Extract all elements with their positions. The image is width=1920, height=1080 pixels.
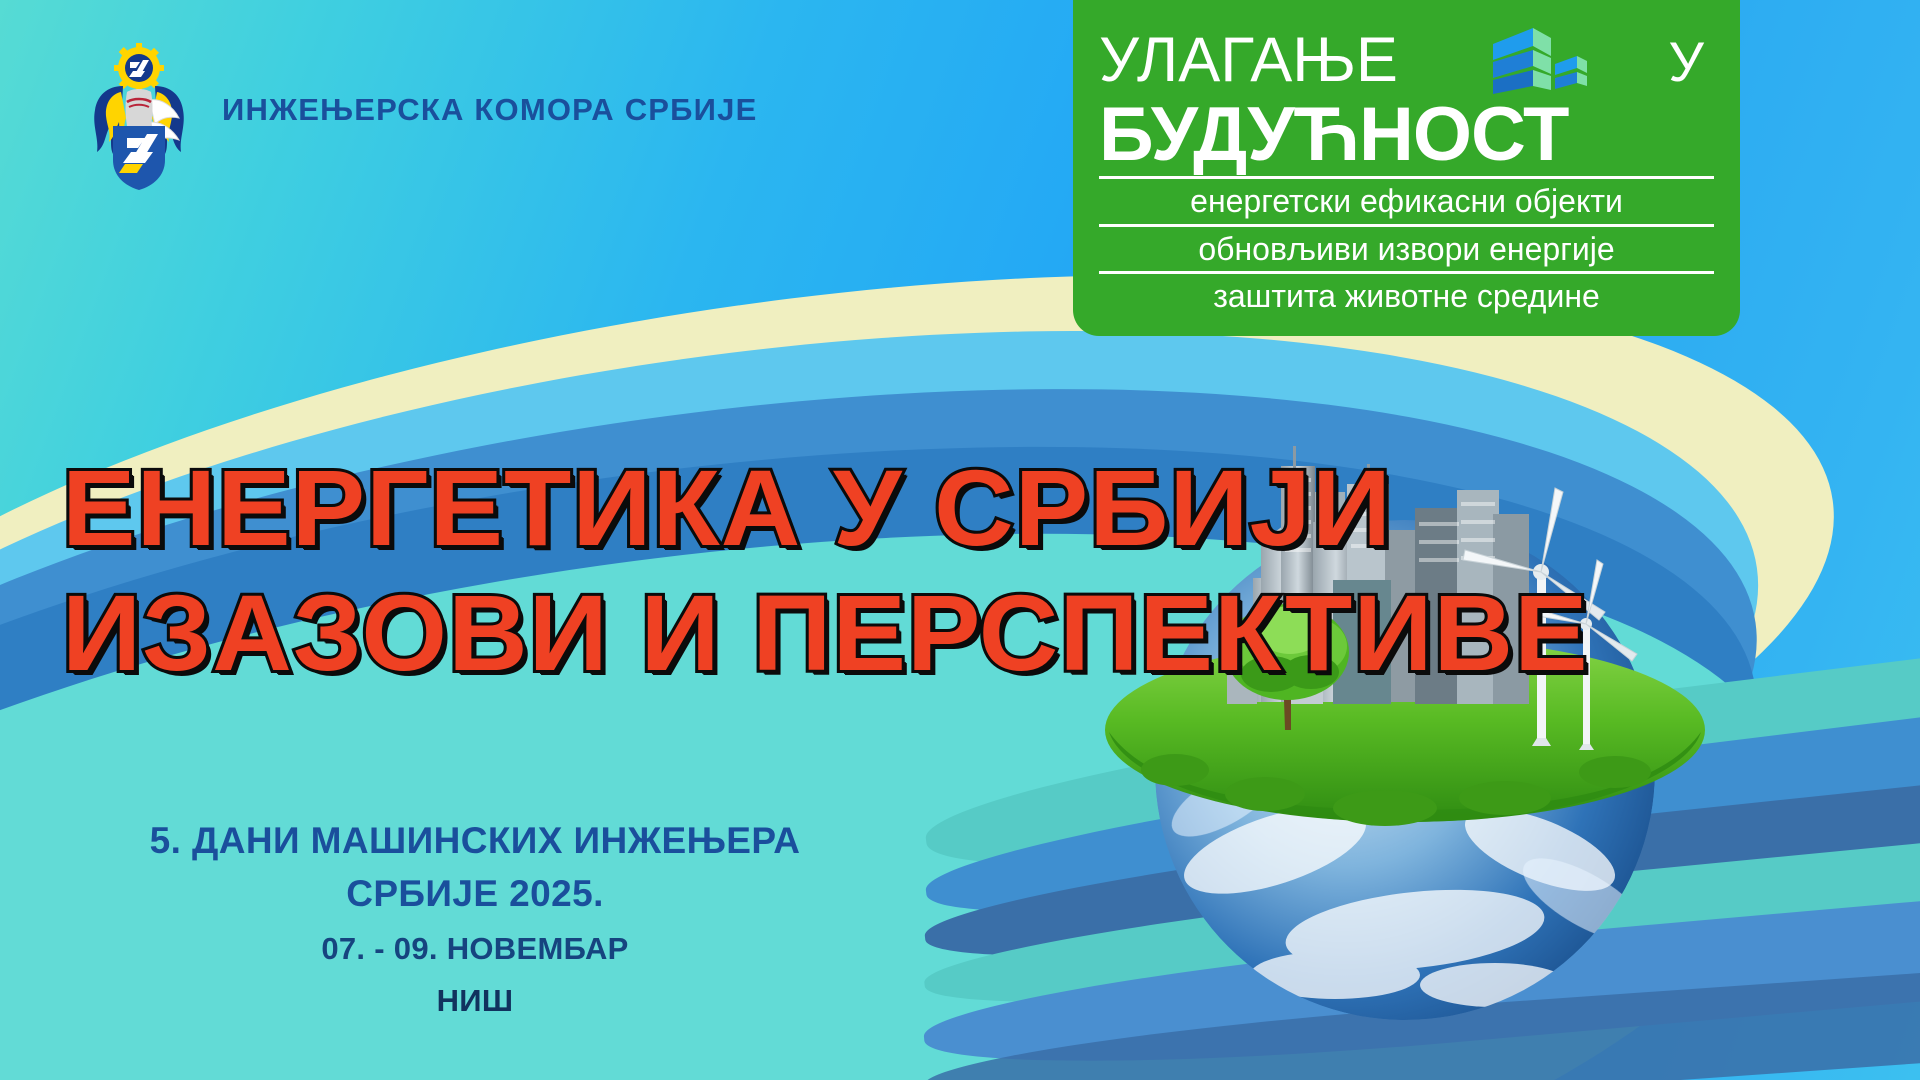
banner-subtitle-2: обновљиви извори енергије xyxy=(1099,224,1714,272)
organization-name: ИНЖЕЊЕРСКА КОМОРА СРБИЈЕ xyxy=(222,92,757,128)
event-dates: 07. - 09. НОВЕМБАР xyxy=(60,931,890,967)
event-name-line-2: СРБИЈЕ 2025. xyxy=(60,873,890,915)
banner-line-1: УЛАГАЊЕ xyxy=(1099,31,1398,91)
poster-canvas: ИНЖЕЊЕРСКА КОМОРА СРБИЈЕ УЛАГАЊЕ У БУДУЋ… xyxy=(0,0,1920,1080)
campaign-banner: УЛАГАЊЕ У БУДУЋНОСТ енергетски ефикасни … xyxy=(1073,0,1740,336)
banner-subtitle-3: заштита животне средине xyxy=(1099,271,1714,319)
buildings-icon xyxy=(1477,20,1589,102)
event-city: НИШ xyxy=(60,983,890,1019)
banner-subtitle-1: енергетски ефикасни објекти xyxy=(1099,176,1714,224)
engineering-chamber-logo-icon xyxy=(75,42,203,190)
event-name-line-1: 5. ДАНИ МАШИНСКИХ ИНЖЕЊЕРА xyxy=(60,820,890,862)
page-title-line-2: ИЗАЗОВИ И ПЕРСПЕКТИВЕ xyxy=(62,575,1133,692)
page-title: ЕНЕРГЕТИКА У СРБИЈИ ИЗАЗОВИ И ПЕРСПЕКТИВ… xyxy=(62,450,1112,691)
banner-line-2: БУДУЋНОСТ xyxy=(1099,100,1714,170)
page-title-line-1: ЕНЕРГЕТИКА У СРБИЈИ xyxy=(62,450,1133,567)
banner-subtitle-list: енергетски ефикасни објекти обновљиви из… xyxy=(1099,176,1714,319)
banner-line-1-suffix: У xyxy=(1668,29,1714,94)
event-details: 5. ДАНИ МАШИНСКИХ ИНЖЕЊЕРА СРБИЈЕ 2025. … xyxy=(60,820,890,1019)
